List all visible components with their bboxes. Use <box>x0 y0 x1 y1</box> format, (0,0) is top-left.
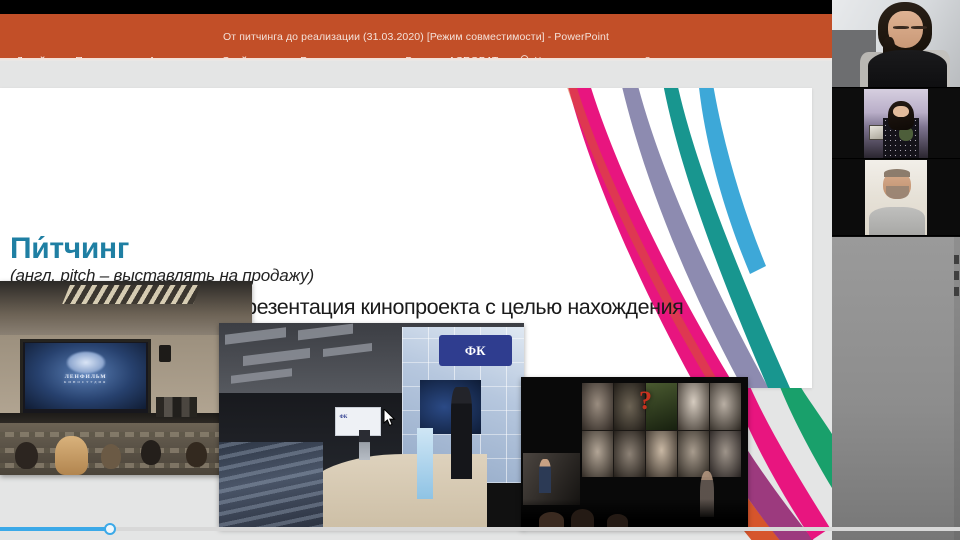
mouse-cursor <box>383 409 396 427</box>
secondary-projection-screen <box>335 407 381 436</box>
fk-logo: ФК <box>439 335 512 366</box>
presenter-silhouette <box>539 459 550 492</box>
lenfilm-logo-sub: КИНОСТУДИЯ <box>25 380 146 384</box>
seat-row <box>0 432 252 437</box>
slide-title: Пи́тчинг <box>10 232 129 266</box>
participant-2-face <box>893 106 908 118</box>
participants-panel-empty-area <box>832 237 960 540</box>
wall-speaker <box>159 345 172 362</box>
portrait-cell <box>582 431 613 478</box>
lenfilm-logo-text: ЛЕНФИЛЬМ КИНОСТУДИЯ <box>25 374 146 384</box>
rail-button-icon[interactable] <box>954 255 959 264</box>
participant-tile-3[interactable] <box>832 160 960 236</box>
audience-member-foreground <box>55 436 88 475</box>
video-progress-track[interactable] <box>0 527 960 531</box>
question-mark-graphic: ? <box>639 386 652 416</box>
participant-1-torso <box>868 50 947 87</box>
audience-seat-rows <box>219 442 323 528</box>
video-progress-fill <box>0 527 110 531</box>
audience-head <box>101 444 121 469</box>
podium <box>417 428 432 500</box>
portrait-cell <box>582 383 613 430</box>
slide-image-auditorium[interactable]: ЛЕНФИЛЬМ КИНОСТУДИЯ <box>0 281 252 475</box>
portrait-cell <box>646 431 677 478</box>
rail-button-icon[interactable] <box>954 287 959 296</box>
powerpoint-ribbon-bar: От питчинга до реализации (31.03.2020) [… <box>0 14 832 58</box>
window-titlebar-top-strip <box>0 0 832 14</box>
ribbon-shadow <box>0 58 832 61</box>
rail-button-icon[interactable] <box>954 271 959 280</box>
right-scroll-rail[interactable] <box>954 237 960 540</box>
video-call-participants-panel <box>832 0 960 540</box>
audience-head <box>186 442 206 467</box>
portrait-cell <box>614 431 645 478</box>
participant-tile-1[interactable] <box>832 0 960 88</box>
portrait-cell <box>710 431 741 478</box>
lenfilm-horse-emblem <box>66 351 106 374</box>
portrait-cell <box>710 383 741 430</box>
audience-head <box>141 440 161 465</box>
participant-tile-2[interactable] <box>832 89 960 159</box>
cinema-screen-collage <box>582 383 741 477</box>
ceiling-lights <box>62 285 201 304</box>
presenter-on-stage <box>359 430 370 461</box>
participant-1-eye <box>893 26 908 29</box>
participant-3-beard <box>886 186 909 200</box>
people-on-stage <box>156 397 196 416</box>
seat-row <box>0 463 252 468</box>
slide-image-conference-stage[interactable]: ФК ФК <box>219 323 524 528</box>
seat-row <box>0 448 252 453</box>
speaker-standing <box>451 387 472 479</box>
audience-head <box>15 442 38 469</box>
participant-3-hair <box>884 169 910 177</box>
side-projection <box>523 453 580 505</box>
participant-1-eye <box>911 26 926 29</box>
slide-image-cinema-portraits[interactable]: ? <box>521 377 748 529</box>
portrait-cell <box>678 383 709 430</box>
secondary-screen-logo: ФК <box>339 415 347 420</box>
window-title: От питчинга до реализации (31.03.2020) [… <box>0 31 832 43</box>
participant-3-torso <box>869 207 925 236</box>
screen-recording-frame: От питчинга до реализации (31.03.2020) [… <box>0 0 960 540</box>
